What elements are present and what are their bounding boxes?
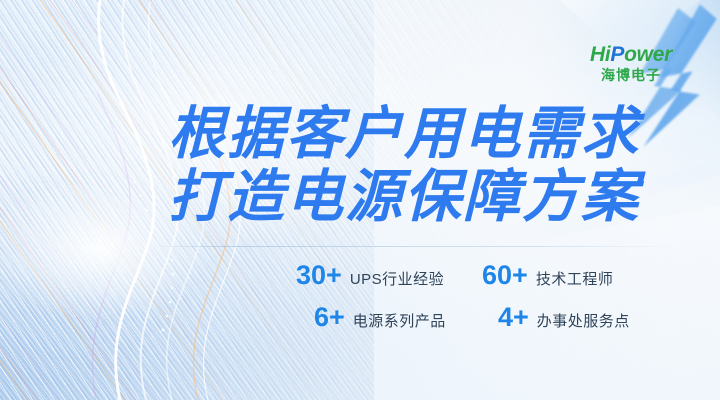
logo-wordmark-prefix: Hi xyxy=(590,43,610,66)
stat-item-product-series: 6+ 电源系列产品 xyxy=(296,304,482,331)
promo-banner: HiPower 海博电子 根据客户用电需求 打造电源保障方案 30+ UPS行业… xyxy=(0,0,720,400)
headline-line-1: 根据客户用电需求 xyxy=(168,103,678,166)
logo-wordmark-accent: P xyxy=(610,43,624,66)
stat-label: UPS行业经验 xyxy=(350,272,444,287)
stats-block: 30+ UPS行业经验 60+ 技术工程师 6+ 电源系列产品 4+ 办事处服务… xyxy=(296,262,676,331)
logo-chinese-name: 海博电子 xyxy=(576,68,686,82)
stats-row: 6+ 电源系列产品 4+ 办事处服务点 xyxy=(296,304,676,331)
logo-wordmark: HiPower xyxy=(576,44,686,65)
stat-item-ups-experience: 30+ UPS行业经验 xyxy=(296,262,482,289)
stat-label: 办事处服务点 xyxy=(537,314,630,329)
logo-wordmark-suffix: ower xyxy=(624,43,672,66)
stat-item-service-offices: 4+ 办事处服务点 xyxy=(482,304,630,331)
stat-label: 电源系列产品 xyxy=(353,314,446,329)
section-divider xyxy=(150,246,682,247)
stat-number: 30+ xyxy=(296,262,342,289)
brand-logo[interactable]: HiPower 海博电子 xyxy=(576,44,686,82)
stat-number: 6+ xyxy=(314,304,345,331)
headline: 根据客户用电需求 打造电源保障方案 xyxy=(168,103,678,229)
stat-label: 技术工程师 xyxy=(536,272,614,287)
stat-item-engineers: 60+ 技术工程师 xyxy=(482,262,613,289)
stat-number: 4+ xyxy=(498,304,529,331)
stats-row: 30+ UPS行业经验 60+ 技术工程师 xyxy=(296,262,676,289)
stat-number: 60+ xyxy=(482,262,528,289)
headline-line-2: 打造电源保障方案 xyxy=(168,166,678,229)
